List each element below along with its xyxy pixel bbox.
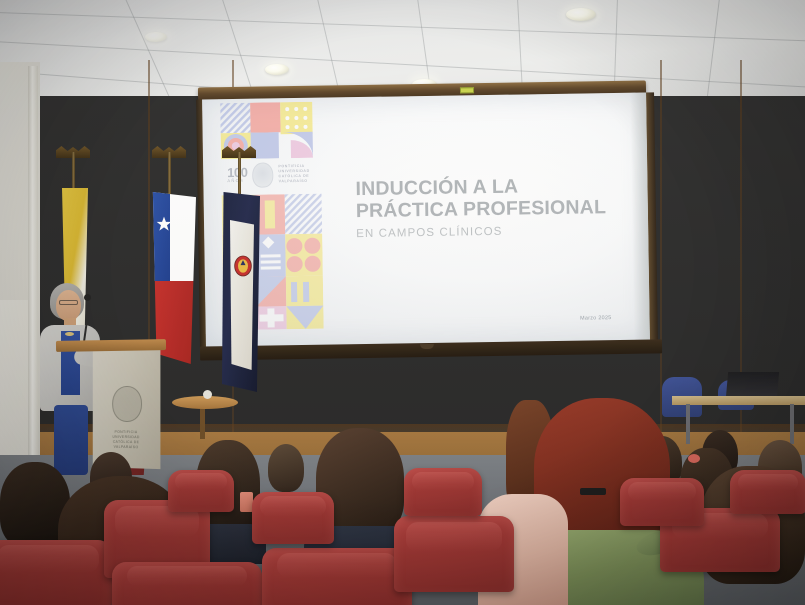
eyeglasses-icon bbox=[59, 300, 78, 305]
housing-label-tag bbox=[460, 87, 474, 93]
podium-university-text: PONTIFICIA UNIVERSIDAD CATÓLICA DE VALPA… bbox=[99, 430, 155, 451]
auditorium-seat bbox=[730, 470, 805, 514]
chile-flag-star-icon bbox=[156, 216, 172, 232]
slide-logo: 100 AÑOS PONTIFICIA UNIVERSIDAD CATÓLICA… bbox=[227, 159, 339, 189]
slide-subtitle: EN CAMPOS CLÍNICOS bbox=[356, 226, 502, 240]
university-flag-crest-icon bbox=[233, 254, 253, 278]
podium-top-surface bbox=[56, 339, 166, 352]
person-hair bbox=[268, 444, 304, 492]
screen-surface: 100 AÑOS PONTIFICIA UNIVERSIDAD CATÓLICA… bbox=[202, 93, 650, 348]
table-object bbox=[203, 390, 212, 399]
podium-crest-icon bbox=[112, 386, 142, 422]
projection-screen: 100 AÑOS PONTIFICIA UNIVERSIDAD CATÓLICA… bbox=[202, 93, 650, 348]
podium-text-line4: VALPARAÍSO bbox=[99, 445, 155, 451]
slide-title: INDUCCIÓN A LA PRÁCTICA PROFESIONAL bbox=[355, 175, 636, 223]
ceiling-light bbox=[145, 32, 167, 42]
lecture-hall-photo: 100 AÑOS PONTIFICIA UNIVERSIDAD CATÓLICA… bbox=[0, 0, 805, 605]
ceiling-light bbox=[566, 8, 596, 21]
auditorium-seat bbox=[112, 562, 262, 605]
speaker-head bbox=[56, 290, 81, 321]
presentation-slide: 100 AÑOS PONTIFICIA UNIVERSIDAD CATÓLICA… bbox=[202, 93, 650, 348]
slide-date: Marzo 2025 bbox=[580, 315, 612, 321]
lanyard-clasp bbox=[580, 488, 606, 495]
laptop bbox=[726, 372, 779, 398]
university-flag bbox=[222, 192, 260, 392]
auditorium-seat bbox=[404, 468, 482, 516]
auditorium-seat bbox=[252, 492, 334, 544]
university-crest-icon bbox=[252, 162, 273, 187]
screen-pull-tab bbox=[420, 344, 434, 349]
auditorium-seat bbox=[394, 516, 514, 592]
back-table-leg bbox=[790, 404, 794, 444]
auditorium-seat bbox=[262, 548, 412, 605]
slide-title-line2: PRÁCTICA PROFESIONAL bbox=[356, 197, 636, 223]
flag-pole bbox=[238, 152, 241, 196]
podium: PONTIFICIA UNIVERSIDAD CATÓLICA DE VALPA… bbox=[93, 347, 161, 469]
university-name: PONTIFICIA UNIVERSIDAD CATÓLICA DE VALPA… bbox=[278, 163, 310, 184]
university-name-line4: VALPARAÍSO bbox=[279, 179, 310, 185]
side-table-leg bbox=[200, 405, 205, 439]
auditorium-seat bbox=[620, 478, 704, 526]
microphone-icon bbox=[84, 294, 91, 301]
wall-panel-seam bbox=[740, 60, 742, 480]
auditorium-seat bbox=[168, 470, 234, 512]
ceiling-grid-line bbox=[0, 10, 805, 45]
necklace bbox=[65, 332, 74, 336]
flag-pole bbox=[168, 152, 171, 198]
auditorium-seat bbox=[0, 540, 112, 605]
